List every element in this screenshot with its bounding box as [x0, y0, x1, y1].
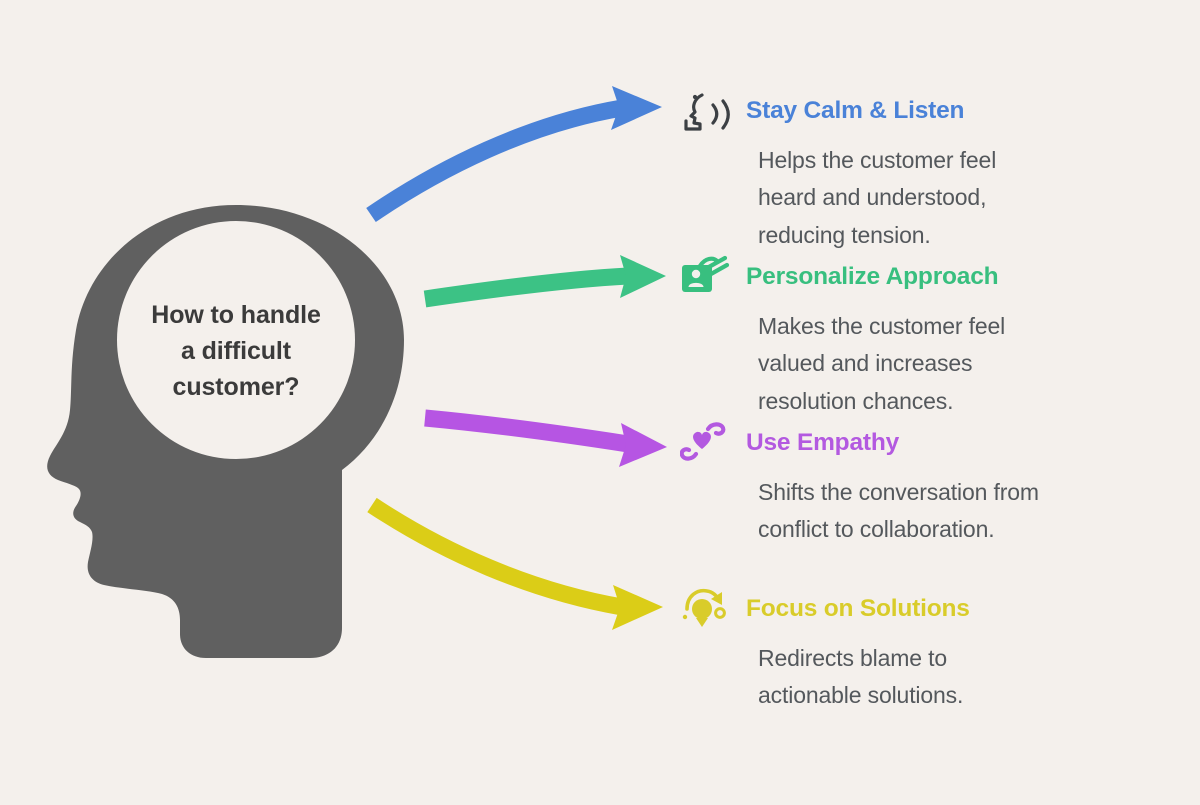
item-description-line: resolution chances. — [758, 383, 1178, 420]
lightbulb-refresh-icon — [672, 586, 746, 632]
center-question: How to handle a difficult customer? — [110, 298, 362, 405]
item-description-line: reducing tension. — [758, 217, 1178, 254]
item-header: Use Empathy — [672, 420, 1200, 466]
arrow-empathy — [425, 418, 667, 467]
strategy-list: Stay Calm & Listen Helps the customer fe… — [672, 0, 1200, 800]
center-question-line-2: a difficult — [110, 334, 362, 370]
item-description: Helps the customer feel heard and unders… — [758, 142, 1178, 254]
id-badge-hand-icon — [672, 254, 746, 300]
item-header: Focus on Solutions — [672, 586, 1200, 632]
item-description-line: Shifts the conversation from — [758, 474, 1198, 511]
arrow-stay-calm — [371, 86, 662, 215]
center-question-line-3: customer? — [110, 370, 362, 406]
item-description: Redirects blame to actionable solutions. — [758, 640, 1178, 715]
item-description-line: actionable solutions. — [758, 677, 1178, 714]
list-item-empathy[interactable]: Use Empathy Shifts the conversation from… — [672, 420, 1200, 549]
item-description-line: valued and increases — [758, 345, 1178, 382]
item-title: Focus on Solutions — [746, 595, 970, 623]
item-header: Stay Calm & Listen — [672, 88, 1200, 134]
item-title: Use Empathy — [746, 429, 899, 457]
item-header: Personalize Approach — [672, 254, 1200, 300]
item-title: Stay Calm & Listen — [746, 97, 964, 125]
item-description: Makes the customer feel valued and incre… — [758, 308, 1178, 420]
item-description-line: Helps the customer feel — [758, 142, 1178, 179]
item-description: Shifts the conversation from conflict to… — [758, 474, 1198, 549]
brain-circle — [117, 221, 355, 459]
list-item-solutions[interactable]: Focus on Solutions Redirects blame to ac… — [672, 586, 1200, 715]
item-description-line: conflict to collaboration. — [758, 511, 1198, 548]
infographic-canvas: How to handle a difficult customer? — [0, 0, 1200, 800]
item-description-line: Makes the customer feel — [758, 308, 1178, 345]
arrow-solutions — [372, 505, 663, 630]
center-question-line-1: How to handle — [110, 298, 362, 334]
speaking-head-icon — [672, 88, 746, 134]
list-item-stay-calm[interactable]: Stay Calm & Listen Helps the customer fe… — [672, 88, 1200, 254]
item-description-line: heard and understood, — [758, 179, 1178, 216]
arrow-personalize — [425, 255, 666, 299]
head-silhouette-shape — [47, 205, 404, 658]
item-title: Personalize Approach — [746, 263, 998, 291]
item-description-line: Redirects blame to — [758, 640, 1178, 677]
heart-in-hands-icon — [672, 420, 746, 466]
list-item-personalize[interactable]: Personalize Approach Makes the customer … — [672, 254, 1200, 420]
